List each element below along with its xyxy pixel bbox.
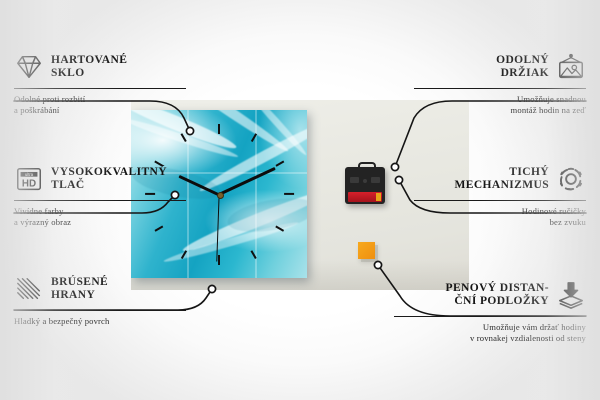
feature-foam-spacers: PENOVÝ DISTAN- ČNÍ PODLOŽKY Umožňuje vám… [394, 278, 586, 344]
tick-3 [284, 193, 294, 195]
feature-header: ultra HD VYSOKOKVALITNÝ TLAČ [14, 162, 186, 196]
feature-subtitle-line2: a poškrábání [14, 105, 186, 116]
feature-header: HARTOVANÉ SKLO [14, 50, 186, 84]
divider [414, 200, 586, 201]
feature-silent-mechanism: TICHÝ MECHANIZMUS Hodinové ručičky bez z… [414, 162, 586, 228]
divider [14, 200, 186, 201]
gear-icon [556, 164, 586, 194]
feature-subtitle-line1: Umožňuje vám držať hodiny [394, 322, 586, 333]
glass-reflection [187, 110, 189, 278]
mechanism-body [345, 167, 385, 204]
svg-text:ultra: ultra [25, 172, 34, 177]
feature-title: ODOLNÝ DRŽIAK [496, 54, 549, 80]
feature-header: ODOLNÝ DRŽIAK [414, 50, 586, 84]
feature-header: PENOVÝ DISTAN- ČNÍ PODLOŽKY [394, 278, 586, 312]
svg-text:HD: HD [22, 179, 36, 190]
feature-tempered-glass: HARTOVANÉ SKLO Odolné proti rozbití a po… [14, 50, 186, 116]
clock-mechanism [345, 162, 385, 204]
divider [14, 88, 186, 89]
mechanism-detail [371, 177, 380, 183]
tick-12 [218, 124, 220, 134]
feature-title: BRÚSENÉ HRANY [51, 276, 108, 302]
feature-subtitle-line1: Hladký a bezpečný povrch [14, 316, 186, 327]
foam-spacer-pad [358, 242, 375, 259]
stacked-layers-down-arrow-icon [556, 280, 586, 310]
mechanism-shaft [363, 179, 367, 183]
feature-subtitle-line1: Umožňuje snadnou [414, 94, 586, 105]
feature-subtitle-line2: bez zvuku [414, 217, 586, 228]
ultra-hd-icon: ultra HD [14, 164, 44, 194]
diamond-icon [14, 52, 44, 82]
feature-title: TICHÝ MECHANIZMUS [455, 166, 550, 192]
feature-title: HARTOVANÉ SKLO [51, 54, 127, 80]
feature-durable-hanger: ODOLNÝ DRŽIAK Umožňuje snadnou montáž ho… [414, 50, 586, 116]
feature-subtitle-line2: montáž hodin na zeď [414, 105, 586, 116]
feature-subtitle-line1: Odolné proti rozbití [14, 94, 186, 105]
mechanism-detail [350, 177, 359, 183]
feature-high-quality-print: ultra HD VYSOKOKVALITNÝ TLAČ Vivídne far… [14, 162, 186, 228]
feature-polished-edges: BRÚSENÉ HRANY Hladký a bezpečný povrch [14, 272, 186, 327]
divider [394, 316, 586, 317]
infographic-canvas: HARTOVANÉ SKLO Odolné proti rozbití a po… [0, 0, 600, 400]
feature-header: BRÚSENÉ HRANY [14, 272, 186, 306]
divider [414, 88, 586, 89]
tick-6 [218, 255, 220, 265]
feature-header: TICHÝ MECHANIZMUS [414, 162, 586, 196]
picture-hanger-icon [556, 52, 586, 82]
feature-subtitle-line1: Vivídne farby [14, 206, 186, 217]
feature-subtitle-line2: v rovnakej vzdialenosti od steny [394, 333, 586, 344]
battery [348, 192, 382, 202]
divider [14, 310, 186, 311]
feature-title: PENOVÝ DISTAN- ČNÍ PODLOŽKY [446, 282, 549, 308]
feature-subtitle-line1: Hodinové ručičky [414, 206, 586, 217]
feature-title: VYSOKOKVALITNÝ TLAČ [51, 166, 167, 192]
hatch-edge-icon [14, 274, 44, 304]
feature-subtitle-line2: a výrazný obraz [14, 217, 186, 228]
hands-pin [217, 192, 224, 199]
